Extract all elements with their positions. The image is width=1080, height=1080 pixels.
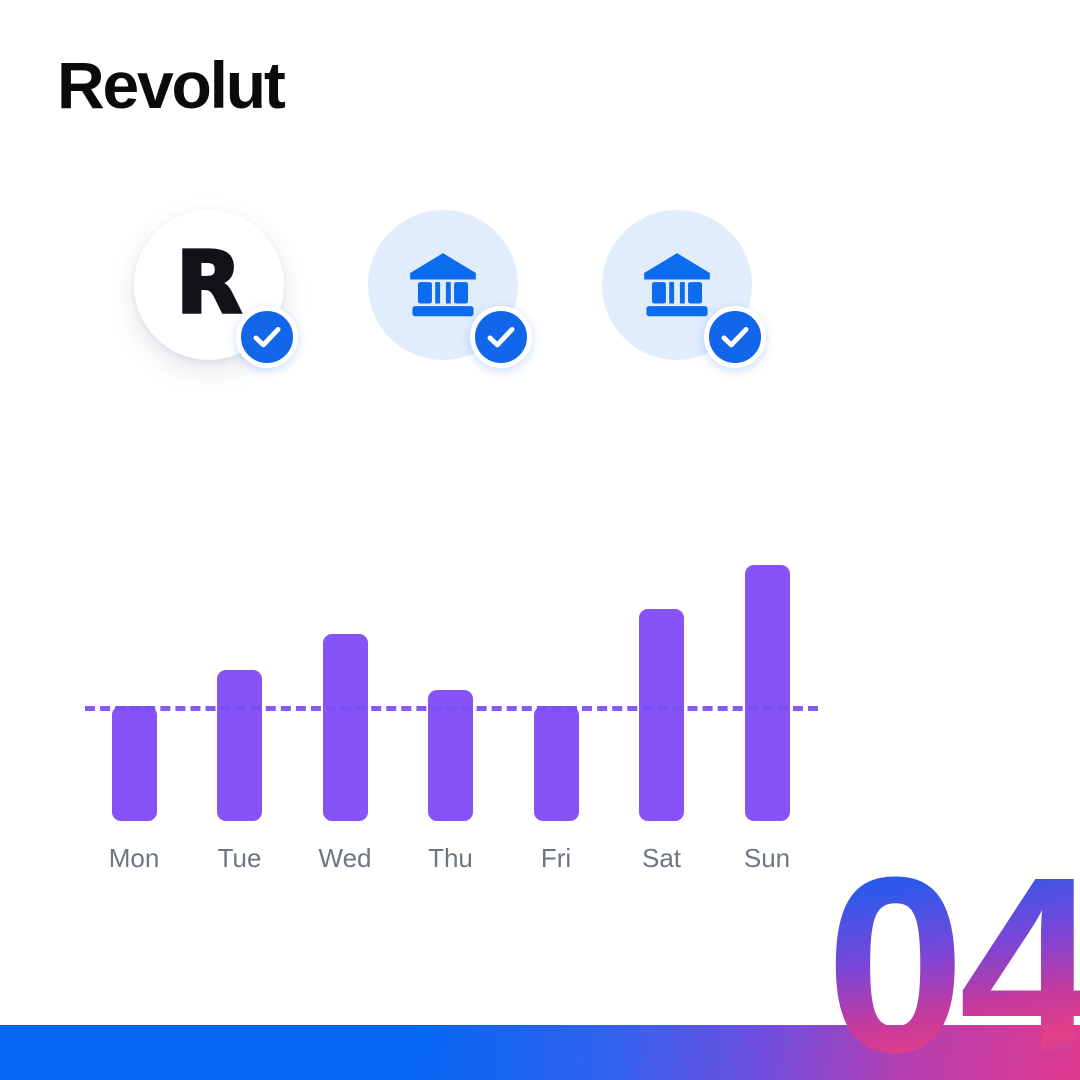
- slide-canvas: Revolut R: [0, 0, 1080, 1080]
- chart-bar[interactable]: [217, 670, 262, 821]
- chart-x-label: Fri: [496, 843, 616, 874]
- chart-bar[interactable]: [534, 706, 579, 821]
- average-dashed-line: [85, 706, 818, 711]
- chart-bar[interactable]: [112, 706, 157, 821]
- chart-x-label: Mon: [74, 843, 194, 874]
- chart-x-label: Tue: [180, 843, 300, 874]
- weekly-spending-chart: MonTueWedThuFriSatSun: [0, 0, 1080, 920]
- chart-x-label: Sun: [707, 843, 827, 874]
- chart-x-label: Thu: [391, 843, 511, 874]
- slide-number: 04: [826, 840, 1080, 1080]
- chart-x-label: Sat: [602, 843, 722, 874]
- chart-bars: [0, 0, 1080, 920]
- chart-bar[interactable]: [745, 565, 790, 821]
- chart-x-label: Wed: [285, 843, 405, 874]
- chart-bar[interactable]: [639, 609, 684, 821]
- chart-bar[interactable]: [323, 634, 368, 821]
